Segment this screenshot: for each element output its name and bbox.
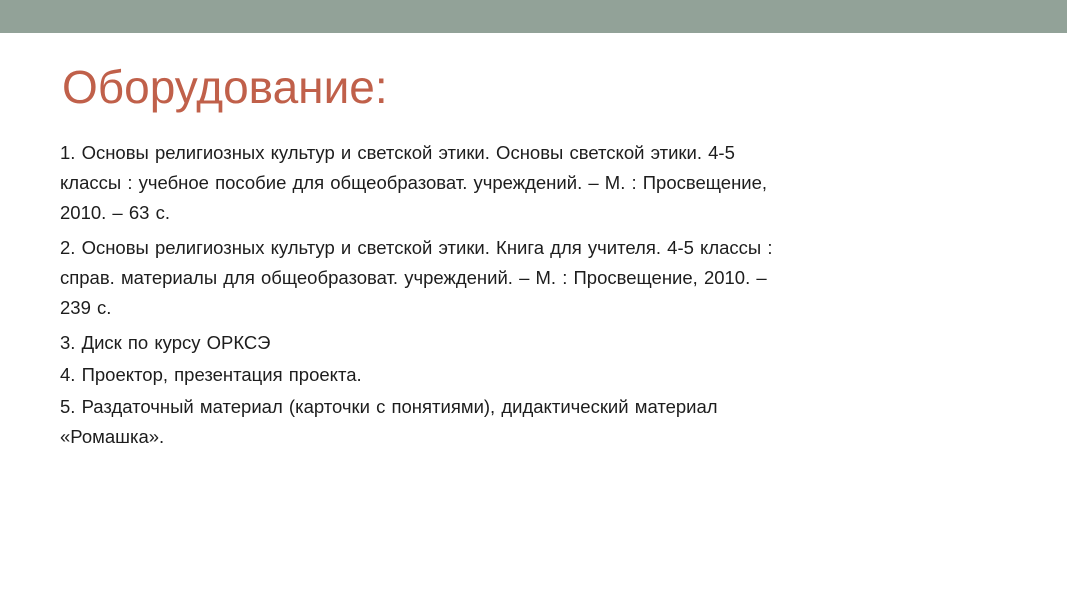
list-item-line: 3. Диск по курсу ОРКСЭ — [60, 328, 1000, 358]
equipment-list: 1. Основы религиозных культур и светской… — [60, 138, 1000, 457]
list-item-line: «Ромашка». — [60, 422, 1000, 452]
list-item: 4. Проектор, презентация проекта. — [60, 360, 1000, 390]
list-item-line: 5. Раздаточный материал (карточки с поня… — [60, 392, 1000, 422]
list-item: 5. Раздаточный материал (карточки с поня… — [60, 392, 1000, 452]
list-item: 2. Основы религиозных культур и светской… — [60, 233, 1000, 323]
presentation-slide: Оборудование: 1. Основы религиозных куль… — [0, 0, 1067, 600]
list-item-line: справ. материалы для общеобразоват. учре… — [60, 263, 1000, 293]
list-item: 1. Основы религиозных культур и светской… — [60, 138, 1000, 228]
list-item-line: 2. Основы религиозных культур и светской… — [60, 233, 1000, 263]
list-item-line: 1. Основы религиозных культур и светской… — [60, 138, 1000, 168]
list-item-line: 2010. – 63 с. — [60, 198, 1000, 228]
page-title: Оборудование: — [62, 60, 388, 114]
slide-content-area: Оборудование: 1. Основы религиозных куль… — [0, 33, 1067, 600]
list-item-line: классы : учебное пособие для общеобразов… — [60, 168, 1000, 198]
list-item: 3. Диск по курсу ОРКСЭ — [60, 328, 1000, 358]
list-item-line: 239 с. — [60, 293, 1000, 323]
slide-header-band — [0, 0, 1067, 33]
list-item-line: 4. Проектор, презентация проекта. — [60, 360, 1000, 390]
